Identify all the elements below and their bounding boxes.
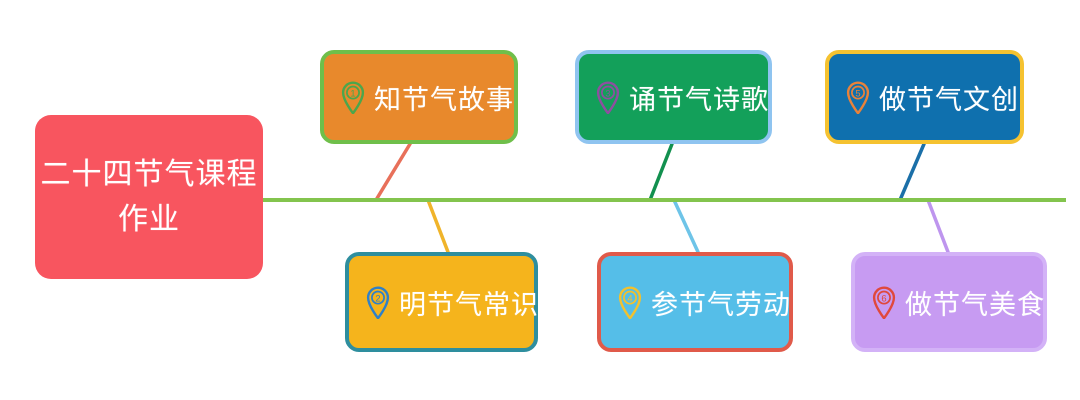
connector-line-5: [900, 144, 924, 200]
connector-line-4: [674, 200, 698, 252]
branch-node-6[interactable]: 6做节气美食: [851, 252, 1047, 352]
branch-node-3[interactable]: 3诵节气诗歌: [575, 50, 772, 144]
root-node-line-1: 二十四节气课程: [41, 152, 258, 197]
branch-label-3: 诵节气诗歌: [629, 78, 769, 117]
svg-text:4: 4: [627, 293, 632, 304]
location-pin-icon: 4: [617, 285, 643, 319]
branch-node-1[interactable]: 1知节气故事: [320, 50, 518, 144]
location-pin-icon: 6: [871, 285, 897, 319]
location-pin-icon: 5: [845, 80, 871, 114]
connector-line-1: [376, 144, 410, 200]
connector-line-3: [650, 144, 672, 200]
branch-label-5: 做节气文创: [879, 78, 1019, 117]
svg-text:3: 3: [605, 88, 610, 99]
root-node-line-2: 作业: [118, 197, 180, 242]
svg-text:5: 5: [855, 88, 860, 99]
branch-label-6: 做节气美食: [905, 283, 1045, 322]
branch-label-2: 明节气常识: [399, 283, 539, 322]
mindmap-canvas: 二十四节气课程 作业 1知节气故事2明节气常识3诵节气诗歌4参节气劳动5做节气文…: [0, 0, 1080, 400]
location-pin-icon: 1: [340, 80, 366, 114]
location-pin-icon: 2: [365, 285, 391, 319]
root-node[interactable]: 二十四节气课程 作业: [35, 115, 263, 279]
branch-label-4: 参节气劳动: [651, 283, 791, 322]
svg-text:6: 6: [881, 293, 886, 304]
branch-node-2[interactable]: 2明节气常识: [345, 252, 538, 352]
connector-line-2: [428, 200, 448, 252]
connector-line-6: [928, 200, 948, 252]
branch-label-1: 知节气故事: [374, 78, 514, 117]
branch-node-5[interactable]: 5做节气文创: [825, 50, 1024, 144]
location-pin-icon: 3: [595, 80, 621, 114]
svg-text:2: 2: [375, 293, 380, 304]
svg-text:1: 1: [350, 88, 355, 99]
branch-node-4[interactable]: 4参节气劳动: [597, 252, 793, 352]
